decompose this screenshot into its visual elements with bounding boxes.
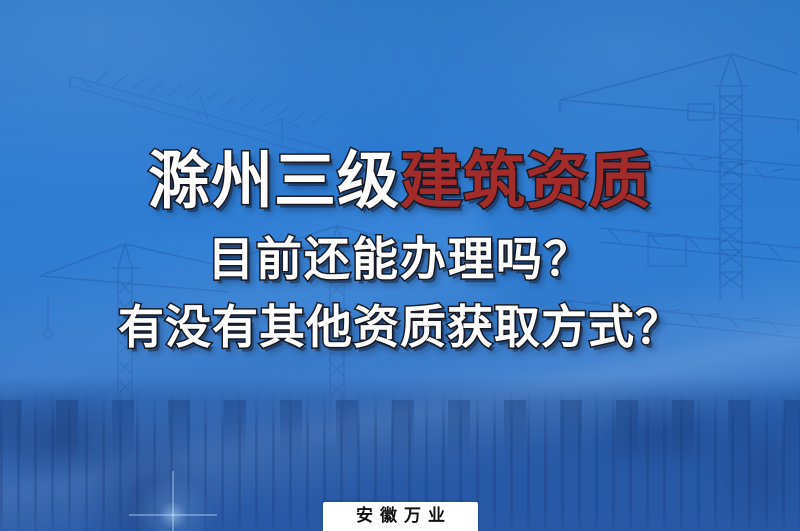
headline-block: 滁州三级建筑资质 目前还能办理吗？ 有没有其他资质获取方式？ — [0, 150, 800, 350]
blueprint-hands-right-icon — [540, 386, 800, 526]
lens-flare-icon — [128, 470, 218, 531]
brand-plate: 安徽万业 — [323, 502, 478, 531]
headline-line-3: 有没有其他资质获取方式？ — [0, 304, 800, 350]
headline-line-1-red-segment: 建筑资质 — [400, 150, 652, 212]
brand-name: 安徽万业 — [349, 508, 452, 525]
headline-line-2: 目前还能办理吗？ — [0, 236, 800, 282]
headline-line-1: 滁州三级建筑资质 — [0, 150, 800, 212]
poster-canvas: 滁州三级建筑资质 目前还能办理吗？ 有没有其他资质获取方式？ 安徽万业 — [0, 0, 800, 531]
headline-line-1-white-segment: 滁州三级 — [148, 150, 400, 212]
